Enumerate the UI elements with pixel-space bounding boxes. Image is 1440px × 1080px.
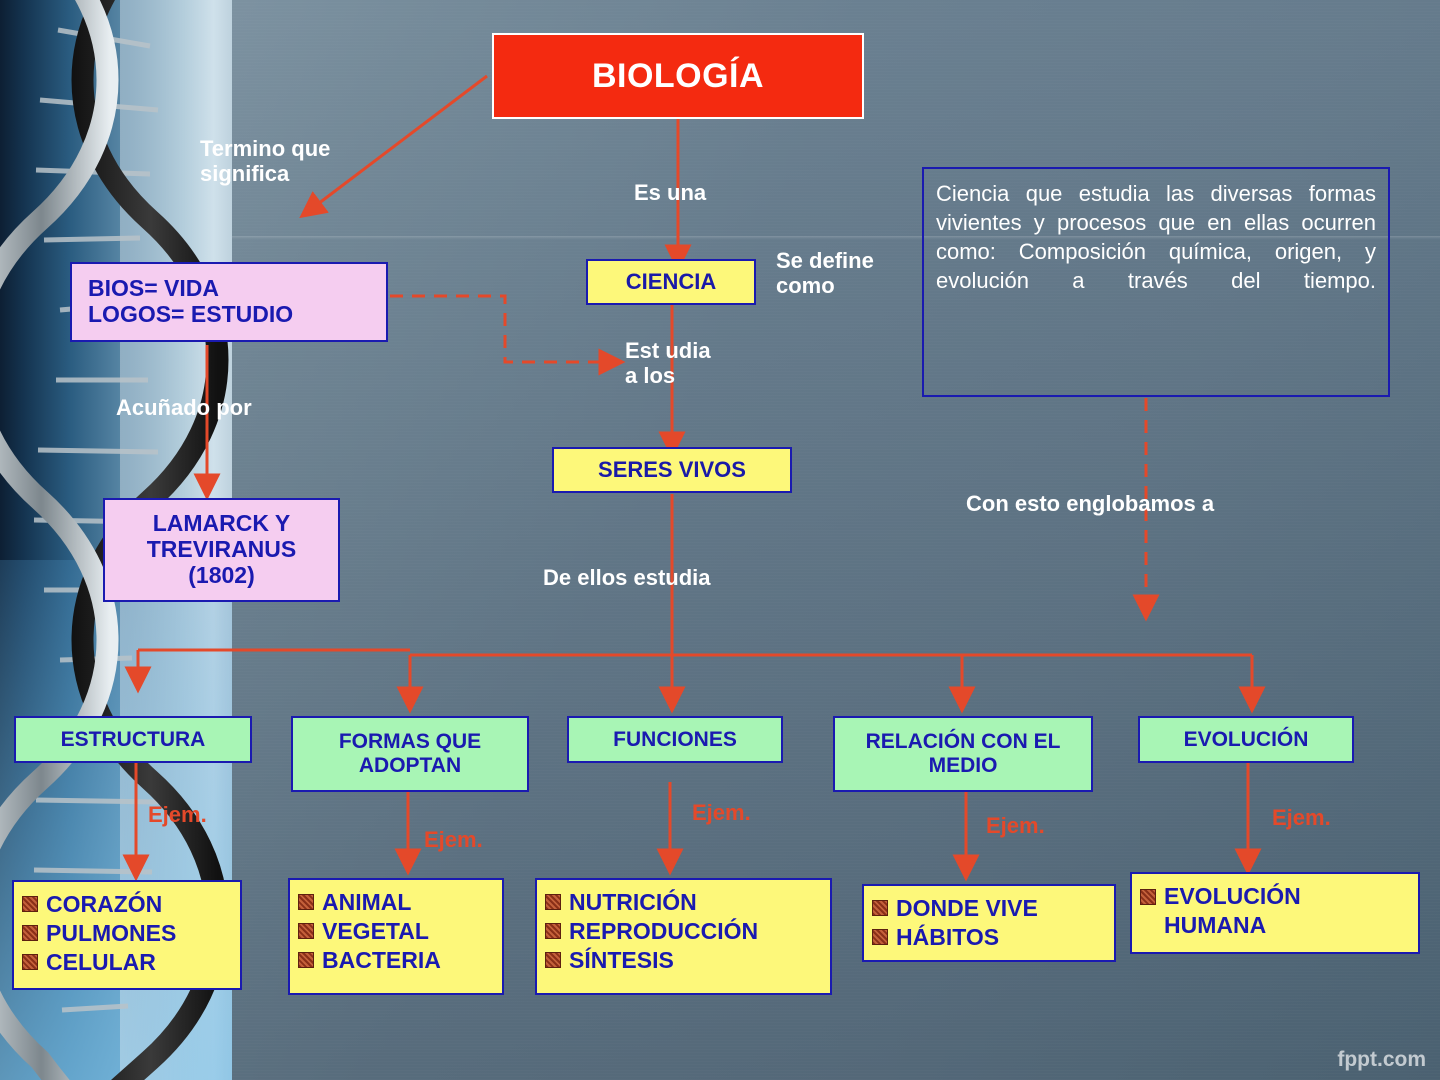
- evolucion-text: EVOLUCIÓN: [1184, 728, 1309, 752]
- list-item: VEGETAL: [298, 917, 492, 946]
- box-estructura: ESTRUCTURA: [14, 716, 252, 763]
- etimologia-text: BIOS= VIDA LOGOS= ESTUDIO: [88, 276, 293, 328]
- box-formas-que-adoptan: FORMAS QUE ADOPTAN: [291, 716, 529, 792]
- list-box-evolucion: EVOLUCIÓN HUMANA: [1130, 872, 1420, 954]
- list-item-label: HÁBITOS: [896, 923, 999, 952]
- list-item-label: NUTRICIÓN: [569, 888, 697, 917]
- list-item-label: CORAZÓN: [46, 890, 162, 919]
- list-item: SÍNTESIS: [545, 946, 820, 975]
- watermark: fppt.com: [1337, 1048, 1426, 1072]
- bullet-icon: [22, 896, 38, 912]
- bullet-icon: [872, 900, 888, 916]
- box-funciones: FUNCIONES: [567, 716, 783, 763]
- label-ejem-funciones: Ejem.: [692, 800, 751, 826]
- relacion-text: RELACIÓN CON EL MEDIO: [835, 730, 1091, 777]
- list-item: REPRODUCCIÓN: [545, 917, 820, 946]
- bullet-icon: [298, 894, 314, 910]
- label-ejem-estructura: Ejem.: [148, 802, 207, 828]
- box-etimologia: BIOS= VIDA LOGOS= ESTUDIO: [70, 262, 388, 342]
- label-ejem-evolucion: Ejem.: [1272, 805, 1331, 831]
- box-relacion-con-el-medio: RELACIÓN CON EL MEDIO: [833, 716, 1093, 792]
- label-es-una: Es una: [634, 180, 706, 205]
- list-item-label: PULMONES: [46, 919, 176, 948]
- list-item-label: VEGETAL: [322, 917, 429, 946]
- box-definicion-ciencia: Ciencia que estudia las diversas formas …: [922, 167, 1390, 397]
- bullet-icon: [298, 952, 314, 968]
- formas-text: FORMAS QUE ADOPTAN: [293, 730, 527, 777]
- lamarck-text: LAMARCK Y TREVIRANUS (1802): [105, 511, 338, 588]
- list-item-label: EVOLUCIÓN HUMANA: [1164, 882, 1408, 940]
- bullet-icon: [298, 923, 314, 939]
- list-item: DONDE VIVE: [872, 894, 1104, 923]
- box-lamarck-treviranus: LAMARCK Y TREVIRANUS (1802): [103, 498, 340, 602]
- list-item-label: SÍNTESIS: [569, 946, 674, 975]
- label-ejem-relacion: Ejem.: [986, 813, 1045, 839]
- estructura-text: ESTRUCTURA: [61, 728, 206, 752]
- list-item: CELULAR: [22, 948, 230, 977]
- list-item: CORAZÓN: [22, 890, 230, 919]
- list-item-label: DONDE VIVE: [896, 894, 1038, 923]
- label-estudia-a-los: Est udia a los: [625, 338, 711, 389]
- label-se-define-como: Se define como: [776, 248, 874, 299]
- definicion-text: Ciencia que estudia las diversas formas …: [936, 181, 1376, 293]
- bullet-icon: [22, 925, 38, 941]
- ciencia-text: CIENCIA: [626, 270, 716, 295]
- list-item: ANIMAL: [298, 888, 492, 917]
- label-acunado-por: Acuñado por: [116, 395, 252, 420]
- list-item: EVOLUCIÓN HUMANA: [1140, 882, 1408, 940]
- label-con-esto-englobamos: Con esto englobamos a: [966, 491, 1214, 516]
- bullet-icon: [545, 952, 561, 968]
- box-seres-vivos: SERES VIVOS: [552, 447, 792, 493]
- list-item-label: CELULAR: [46, 948, 156, 977]
- label-ejem-formas: Ejem.: [424, 827, 483, 853]
- label-de-ellos-estudia: De ellos estudia: [543, 565, 711, 590]
- title-text: BIOLOGÍA: [592, 57, 764, 95]
- box-evolucion: EVOLUCIÓN: [1138, 716, 1354, 763]
- list-item: BACTERIA: [298, 946, 492, 975]
- list-item: NUTRICIÓN: [545, 888, 820, 917]
- bullet-icon: [545, 923, 561, 939]
- funciones-text: FUNCIONES: [613, 728, 737, 752]
- label-termino-que-significa: Termino que significa: [200, 136, 330, 187]
- box-ciencia: CIENCIA: [586, 259, 756, 305]
- seres-vivos-text: SERES VIVOS: [598, 458, 746, 483]
- bullet-icon: [1140, 889, 1156, 905]
- bullet-icon: [545, 894, 561, 910]
- bullet-icon: [22, 954, 38, 970]
- list-box-estructura: CORAZÓN PULMONES CELULAR: [12, 880, 242, 990]
- list-box-funciones: NUTRICIÓN REPRODUCCIÓN SÍNTESIS: [535, 878, 832, 995]
- list-item-label: REPRODUCCIÓN: [569, 917, 758, 946]
- list-item: PULMONES: [22, 919, 230, 948]
- list-item: HÁBITOS: [872, 923, 1104, 952]
- list-box-formas: ANIMAL VEGETAL BACTERIA: [288, 878, 504, 995]
- list-box-relacion: DONDE VIVE HÁBITOS: [862, 884, 1116, 962]
- bullet-icon: [872, 929, 888, 945]
- title-box-biologia: BIOLOGÍA: [492, 33, 864, 119]
- list-item-label: ANIMAL: [322, 888, 411, 917]
- list-item-label: BACTERIA: [322, 946, 441, 975]
